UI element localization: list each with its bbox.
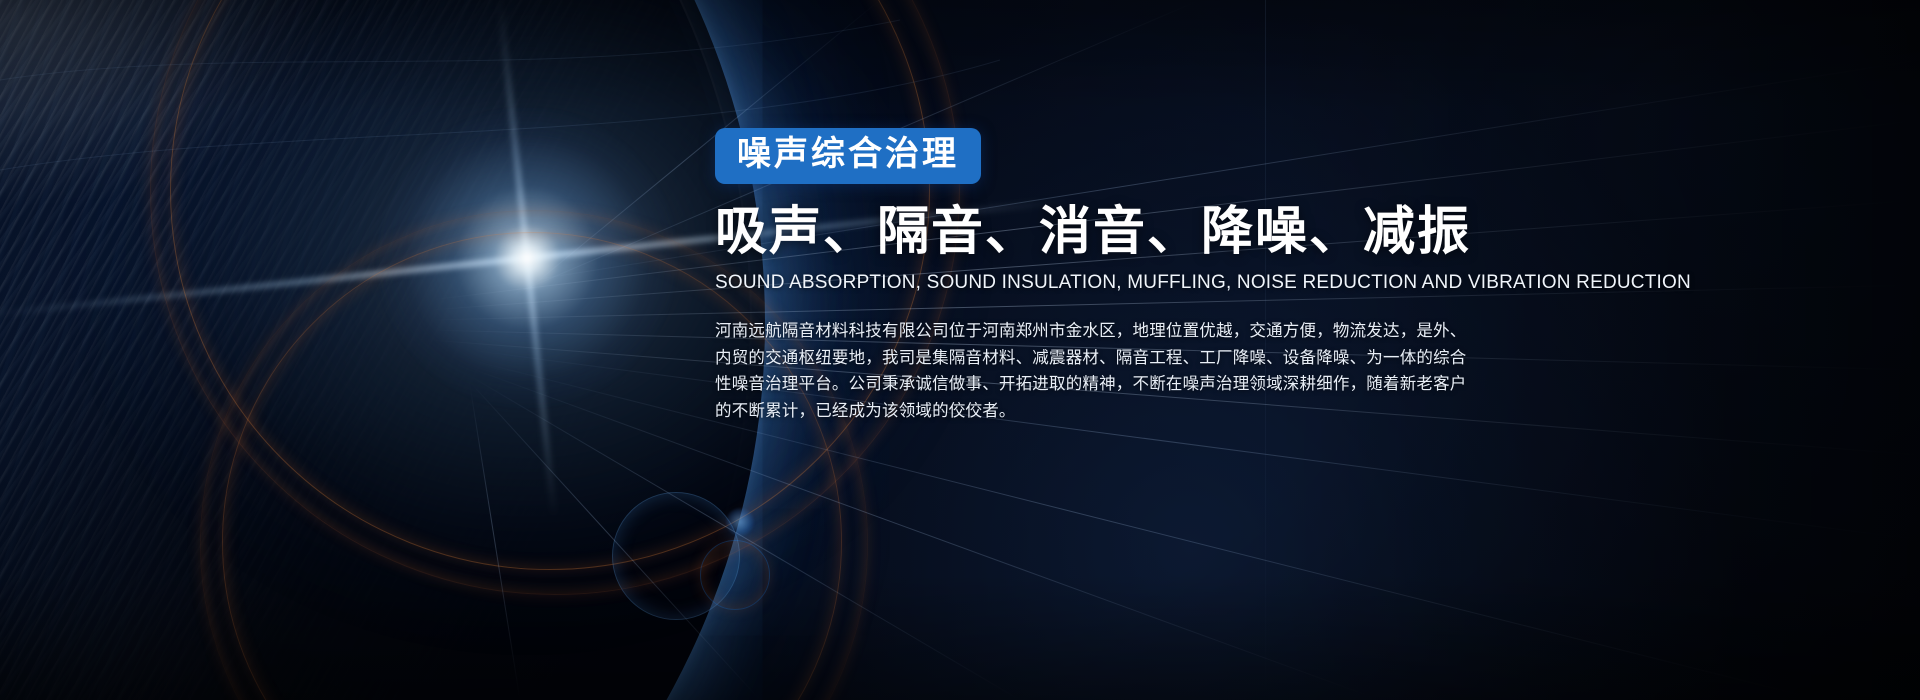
category-badge: 噪声综合治理 <box>715 128 981 184</box>
company-description: 河南远航隔音材料科技有限公司位于河南郑州市金水区，地理位置优越，交通方便，物流发… <box>715 318 1475 425</box>
subtitle-english: SOUND ABSORPTION, SOUND INSULATION, MUFF… <box>715 272 1505 294</box>
hero-banner: 噪声综合治理 吸声、隔音、消音、降噪、减振 SOUND ABSORPTION, … <box>0 0 1920 700</box>
page-title: 吸声、隔音、消音、降噪、减振 <box>715 204 1505 260</box>
hero-content: 噪声综合治理 吸声、隔音、消音、降噪、减振 SOUND ABSORPTION, … <box>715 128 1505 425</box>
